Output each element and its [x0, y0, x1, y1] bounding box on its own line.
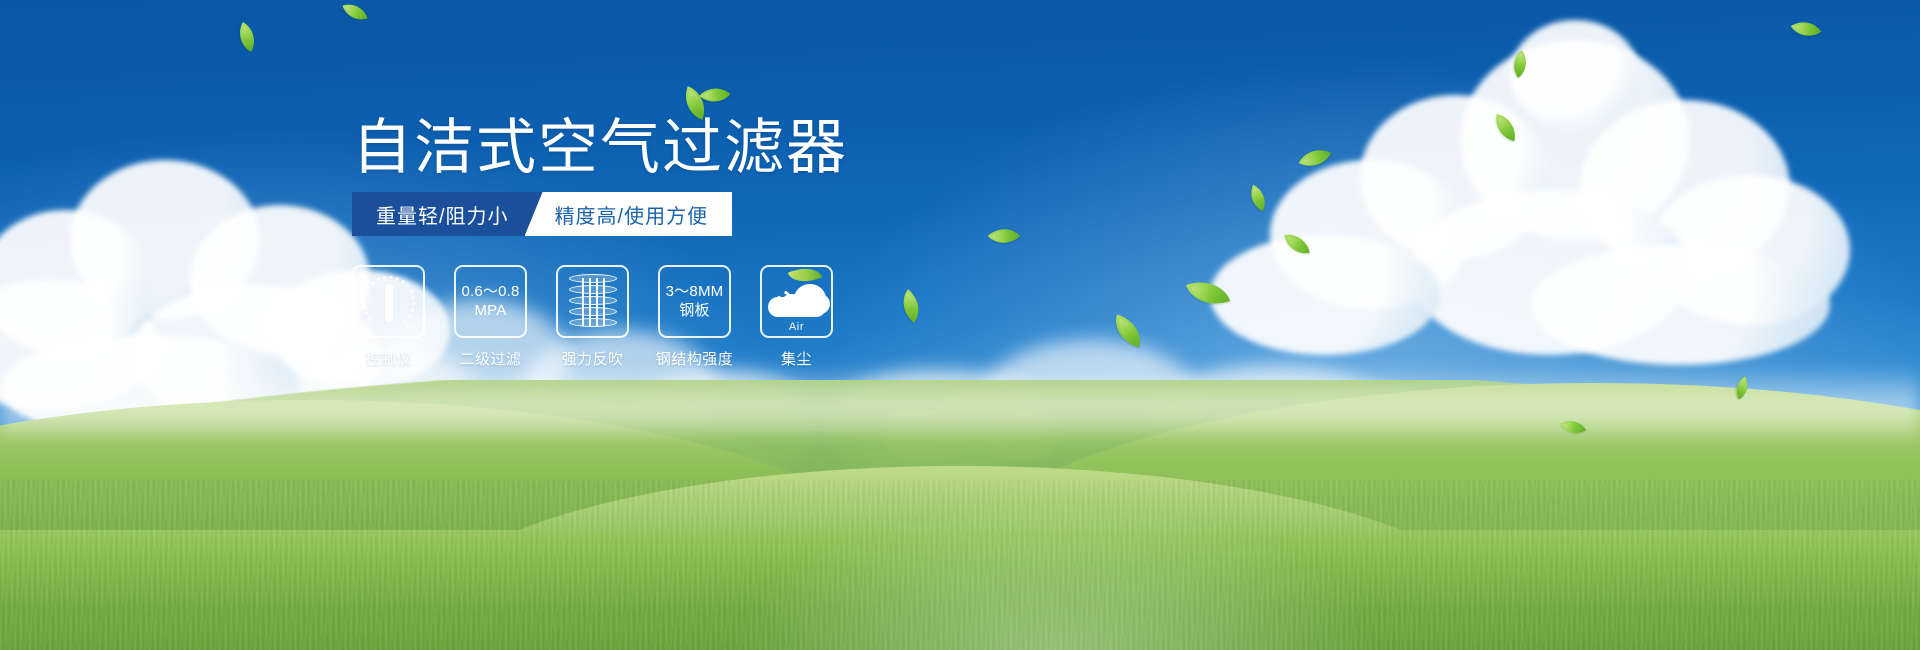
feature-value-line2: MPA — [461, 302, 519, 320]
feature-value-line1: 0.6～0.8 — [461, 283, 519, 301]
gauge-label-on: NO — [360, 306, 368, 312]
feature-item[interactable]: Air 集尘 — [760, 265, 833, 369]
feature-item[interactable]: 3～8MM 钢板 钢结构强度 — [658, 265, 731, 369]
banner-content: 自洁式空气过滤器 重量轻/阻力小 精度高/使用方便 — [0, 0, 1920, 650]
tagline-primary: 重量轻/阻力小 — [352, 192, 543, 236]
feature-icon-box: NO OFF — [352, 265, 425, 338]
gauge-icon: NO OFF — [359, 272, 419, 332]
air-cloud-icon: Air — [766, 274, 828, 330]
feature-icon-box — [556, 265, 629, 338]
feature-icon-text: 0.6～0.8 MPA — [461, 283, 519, 320]
page-title: 自洁式空气过滤器 — [352, 118, 848, 178]
gauge-label-off: OFF — [407, 324, 418, 330]
feature-label: 二级过滤 — [459, 348, 521, 369]
feature-icon-box: 3～8MM 钢板 — [658, 265, 731, 338]
feature-item[interactable]: NO OFF 控制仪 — [352, 265, 425, 369]
feature-label: 钢结构强度 — [656, 348, 734, 369]
coil-filter-icon — [569, 274, 617, 330]
feature-icon-box: 0.6～0.8 MPA — [454, 265, 527, 338]
feature-list: NO OFF 控制仪 0.6～0.8 MPA 二级过滤 — [352, 265, 833, 369]
feature-value-line1: 3～8MM — [666, 283, 724, 301]
tagline-group: 重量轻/阻力小 精度高/使用方便 — [352, 192, 732, 236]
feature-icon-box: Air — [760, 265, 833, 338]
feature-item[interactable]: 强力反吹 — [556, 265, 629, 369]
feature-label: 控制仪 — [365, 348, 412, 369]
feature-label: 强力反吹 — [561, 348, 623, 369]
gauge-needle — [385, 284, 393, 322]
feature-value-line2: 钢板 — [666, 302, 724, 320]
feature-icon-text: 3～8MM 钢板 — [666, 283, 724, 320]
air-label: Air — [766, 321, 828, 333]
tagline-secondary: 精度高/使用方便 — [525, 192, 733, 236]
feature-label: 集尘 — [781, 348, 812, 369]
feature-item[interactable]: 0.6～0.8 MPA 二级过滤 — [454, 265, 527, 369]
title-block: 自洁式空气过滤器 — [352, 118, 848, 178]
hero-banner: 自洁式空气过滤器 重量轻/阻力小 精度高/使用方便 — [0, 0, 1920, 650]
